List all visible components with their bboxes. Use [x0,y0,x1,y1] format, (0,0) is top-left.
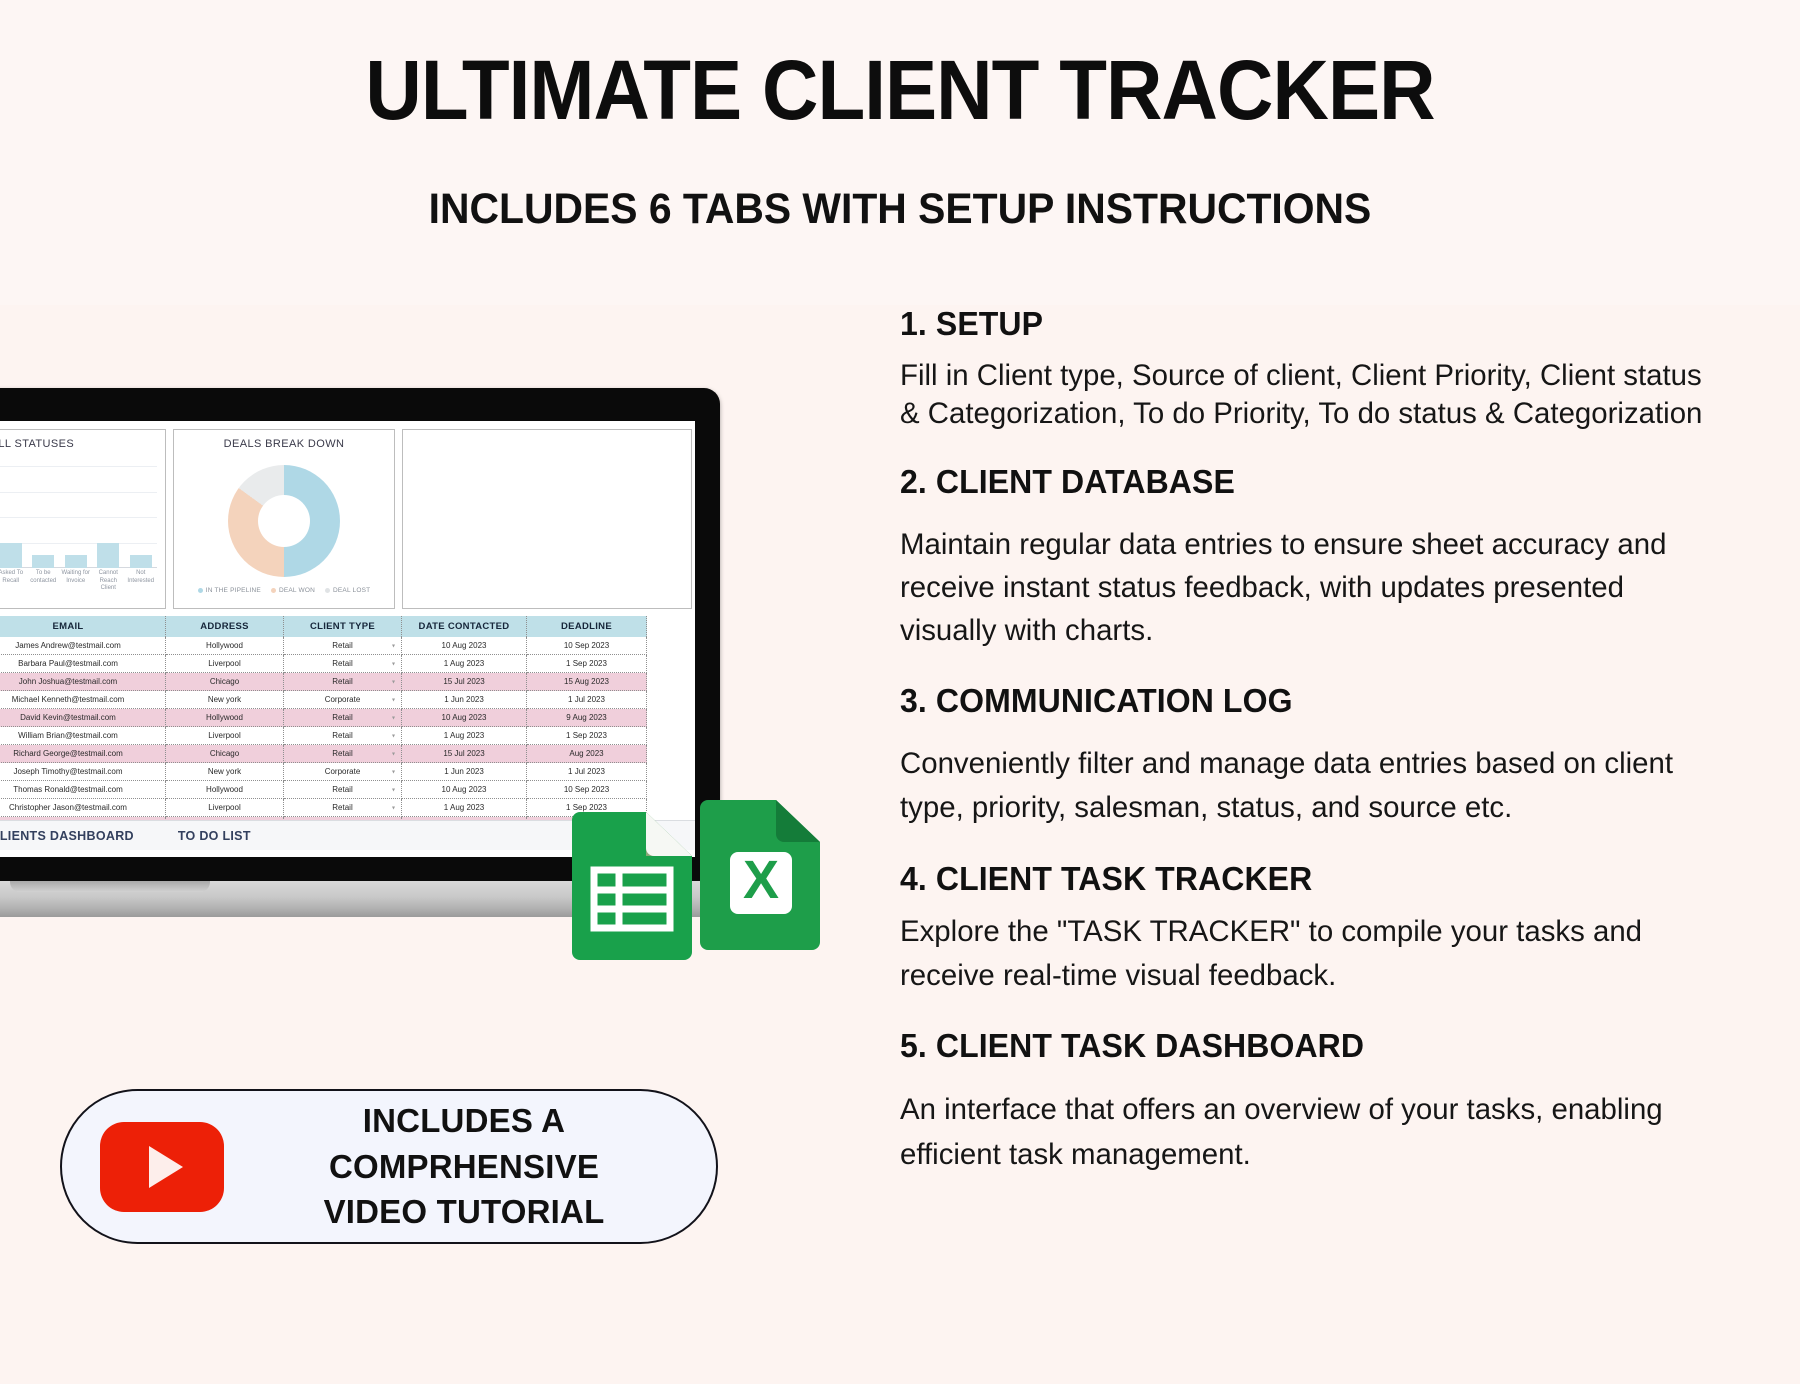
cell-deadline[interactable]: 10 Sep 2023 [527,637,647,655]
table-row[interactable]: Joseph Timothy1000382519Joseph Timothy@t… [0,763,695,781]
cell-client-type[interactable]: Retail▾ [284,781,402,799]
x-tick: Not Interested [125,570,158,604]
poster-canvas: ULTIMATE CLIENT TRACKER INCLUDES 6 TABS … [0,0,1800,1384]
google-sheets-icon [572,812,692,960]
page-subtitle: INCLUDES 6 TABS WITH SETUP INSTRUCTIONS [45,185,1755,234]
cell-date-contacted[interactable]: 15 Jul 2023 [402,745,527,763]
section-heading: 1. SETUP [900,305,1715,343]
bar [32,555,54,568]
cell-address[interactable]: New york [166,763,284,781]
legend-item: DEAL LOST [325,587,370,594]
cell-address[interactable]: Chicago [166,745,284,763]
bar [65,555,87,568]
legend-label: IN THE PIPELINE [206,587,261,594]
video-tutorial-line1: INCLUDES A COMPRHENSIVE [224,1098,704,1189]
column-header-address: ADDRESS [166,616,284,637]
cell-client-type[interactable]: Corporate▾ [284,691,402,709]
section-body: Conveniently filter and manage data entr… [900,742,1723,830]
cell-client-type[interactable]: Retail▾ [284,709,402,727]
table-body: James Andrew1206911462James Andrew@testm… [0,637,695,835]
cell-address[interactable]: Liverpool [166,727,284,745]
cell-deadline[interactable]: 15 Aug 2023 [527,673,647,691]
instruction-section-client-database: 2. CLIENT DATABASE Maintain regular data… [900,463,1740,653]
table-row[interactable]: John Joshua1152620062John Joshua@testmai… [0,673,695,691]
legend-swatch-icon [325,588,330,593]
x-tick: Waiting for Invoice [60,570,93,604]
cell-client-type[interactable]: Retail▾ [284,745,402,763]
cell-email[interactable]: Barbara Paul@testmail.com [0,655,166,673]
laptop-screen: IN THE PIPELINE 13 LOST DEALS 4,400 DEAL… [0,421,695,857]
cell-date-contacted[interactable]: 15 Jul 2023 [402,673,527,691]
legend-label: DEAL WON [279,587,315,594]
chevron-down-icon[interactable]: ▾ [392,642,395,649]
play-triangle-icon [149,1146,183,1188]
cell-email[interactable]: Richard George@testmail.com [0,745,166,763]
cell-deadline[interactable]: 1 Jul 2023 [527,763,647,781]
bar [130,555,152,568]
chart-deals-break-down: DEALS BREAK DOWN IN THE PIPELINE DE [173,429,395,609]
x-tick: Cannot Reach Client [92,570,125,604]
section-heading: 2. CLIENT DATABASE [900,463,1715,501]
cell-deadline[interactable]: 1 Jul 2023 [527,691,647,709]
table-row[interactable]: Michael Kenneth1066067694Michael Kenneth… [0,691,695,709]
table-row[interactable]: David Kevin1117986059David Kevin@testmai… [0,709,695,727]
video-tutorial-badge[interactable]: INCLUDES A COMPRHENSIVE VIDEO TUTORIAL [60,1089,718,1244]
cell-date-contacted[interactable]: 1 Aug 2023 [402,727,527,745]
video-tutorial-line2: VIDEO TUTORIAL [224,1189,704,1235]
cell-address[interactable]: Hollywood [166,637,284,655]
bar [0,543,22,569]
x-axis-labels: Offer Sent Deal Done Under Payment Asked… [0,570,157,604]
chevron-down-icon[interactable]: ▾ [392,768,395,775]
table-row[interactable]: Barbara Paul1014949118Barbara Paul@testm… [0,655,695,673]
table-header-row: NAME PHONE EMAIL ADDRESS CLIENT TYPE DAT… [0,616,695,637]
cell-address[interactable]: Hollywood [166,709,284,727]
cell-client-type[interactable]: Retail▾ [284,655,402,673]
svg-text:X: X [743,850,779,910]
column-header-email: EMAIL [0,616,166,637]
column-header-date-contacted: DATE CONTACTED [402,616,527,637]
section-body: Fill in Client type, Source of client, C… [900,357,1723,433]
chevron-down-icon[interactable]: ▾ [392,660,395,667]
bar-series [0,466,157,568]
tab-to-do-list[interactable]: TO DO LIST [156,822,273,850]
chart-title: DEALS BREAK DOWN [174,430,394,450]
cell-client-type[interactable]: Corporate▾ [284,763,402,781]
column-header-deadline: DEADLINE [527,616,647,637]
cell-email[interactable]: James Andrew@testmail.com [0,637,166,655]
chart-overall-statuses: OVERALL STATUSES 8 6 4 2 0 [0,429,166,609]
chart-legend: IN THE PIPELINE DEAL WON DEAL LOST [174,587,394,594]
cell-date-contacted[interactable]: 10 Aug 2023 [402,637,527,655]
instruction-section-communication-log: 3. COMMUNICATION LOG Conveniently filter… [900,682,1740,830]
cell-deadline[interactable]: 10 Sep 2023 [527,781,647,799]
chevron-down-icon[interactable]: ▾ [392,786,395,793]
bar-plot-area: 8 6 4 2 0 [0,466,157,568]
cell-client-type[interactable]: Retail▾ [284,673,402,691]
donut-ring [228,465,340,577]
chevron-down-icon[interactable]: ▾ [392,804,395,811]
cell-address[interactable]: Liverpool [166,799,284,817]
chart-third-clipped [402,429,692,609]
cell-deadline[interactable]: 1 Sep 2023 [527,655,647,673]
spreadsheet-app: IN THE PIPELINE 13 LOST DEALS 4,400 DEAL… [0,421,695,857]
video-tutorial-label: INCLUDES A COMPRHENSIVE VIDEO TUTORIAL [224,1098,716,1235]
cell-date-contacted[interactable]: 1 Jun 2023 [402,691,527,709]
microsoft-excel-icon: X [700,800,820,950]
chevron-down-icon[interactable]: ▾ [392,714,395,721]
cell-date-contacted[interactable]: 1 Aug 2023 [402,655,527,673]
cell-email[interactable]: Michael Kenneth@testmail.com [0,691,166,709]
cell-client-type[interactable]: Retail▾ [284,727,402,745]
laptop-bezel: IN THE PIPELINE 13 LOST DEALS 4,400 DEAL… [0,388,720,881]
chevron-down-icon[interactable]: ▾ [392,678,395,685]
section-body: An interface that offers an overview of … [900,1087,1723,1177]
donut-plot-area [174,462,394,580]
cell-email[interactable]: John Joshua@testmail.com [0,673,166,691]
page-title: ULTIMATE CLIENT TRACKER [63,42,1737,139]
x-tick: To be contacted [27,570,60,604]
cell-address[interactable]: Hollywood [166,781,284,799]
cell-address[interactable]: Liverpool [166,655,284,673]
legend-label: DEAL LOST [333,587,370,594]
legend-swatch-icon [271,588,276,593]
table-row[interactable]: Richard George1008663597Richard George@t… [0,745,695,763]
cell-date-contacted[interactable]: 1 Aug 2023 [402,799,527,817]
instructions-column: 1. SETUP Fill in Client type, Source of … [900,305,1760,1384]
cell-email[interactable]: David Kevin@testmail.com [0,709,166,727]
chevron-down-icon[interactable]: ▾ [392,696,395,703]
chart-title: OVERALL STATUSES [0,430,165,450]
instruction-section-client-task-dashboard: 5. CLIENT TASK DASHBOARD An interface th… [900,1027,1740,1177]
cell-address[interactable]: Chicago [166,673,284,691]
cell-email[interactable]: Thomas Ronald@testmail.com [0,781,166,799]
table-row[interactable]: James Andrew1206911462James Andrew@testm… [0,637,695,655]
youtube-play-icon [100,1122,224,1212]
cell-date-contacted[interactable]: 1 Jun 2023 [402,763,527,781]
table-row[interactable]: William Brian1020060653William Brian@tes… [0,727,695,745]
legend-swatch-icon [198,588,203,593]
chevron-down-icon[interactable]: ▾ [392,750,395,757]
header-band: ULTIMATE CLIENT TRACKER INCLUDES 6 TABS … [0,0,1800,305]
section-heading: 5. CLIENT TASK DASHBOARD [900,1027,1715,1065]
laptop-notch [10,881,210,892]
cell-deadline[interactable]: 1 Sep 2023 [527,727,647,745]
legend-item: IN THE PIPELINE [198,587,261,594]
section-body: Explore the "TASK TRACKER" to compile yo… [900,910,1723,996]
section-body: Maintain regular data entries to ensure … [900,523,1723,653]
cell-email[interactable]: William Brian@testmail.com [0,727,166,745]
bar [97,543,119,569]
instruction-section-client-task-tracker: 4. CLIENT TASK TRACKER Explore the "TASK… [900,860,1740,996]
chevron-down-icon[interactable]: ▾ [392,732,395,739]
section-heading: 3. COMMUNICATION LOG [900,682,1715,720]
column-header-client-type: CLIENT TYPE [284,616,402,637]
legend-item: DEAL WON [271,587,315,594]
cell-date-contacted[interactable]: 10 Aug 2023 [402,709,527,727]
section-heading: 4. CLIENT TASK TRACKER [900,860,1715,898]
cell-client-type[interactable]: Retail▾ [284,637,402,655]
cell-email[interactable]: Joseph Timothy@testmail.com [0,763,166,781]
cell-deadline[interactable]: Aug 2023 [527,745,647,763]
cell-address[interactable]: New york [166,691,284,709]
x-tick: Asked To Recall [0,570,27,604]
clients-table: NAME PHONE EMAIL ADDRESS CLIENT TYPE DAT… [0,616,695,835]
table-row[interactable]: Thomas Ronald1287841390Thomas Ronald@tes… [0,781,695,799]
cell-date-contacted[interactable]: 10 Aug 2023 [402,781,527,799]
tab-clients-dashboard[interactable]: CLIENTS DASHBOARD [0,822,156,850]
cell-client-type[interactable]: Retail▾ [284,799,402,817]
cell-deadline[interactable]: 9 Aug 2023 [527,709,647,727]
instruction-section-setup: 1. SETUP Fill in Client type, Source of … [900,305,1740,433]
cell-email[interactable]: Christopher Jason@testmail.com [0,799,166,817]
